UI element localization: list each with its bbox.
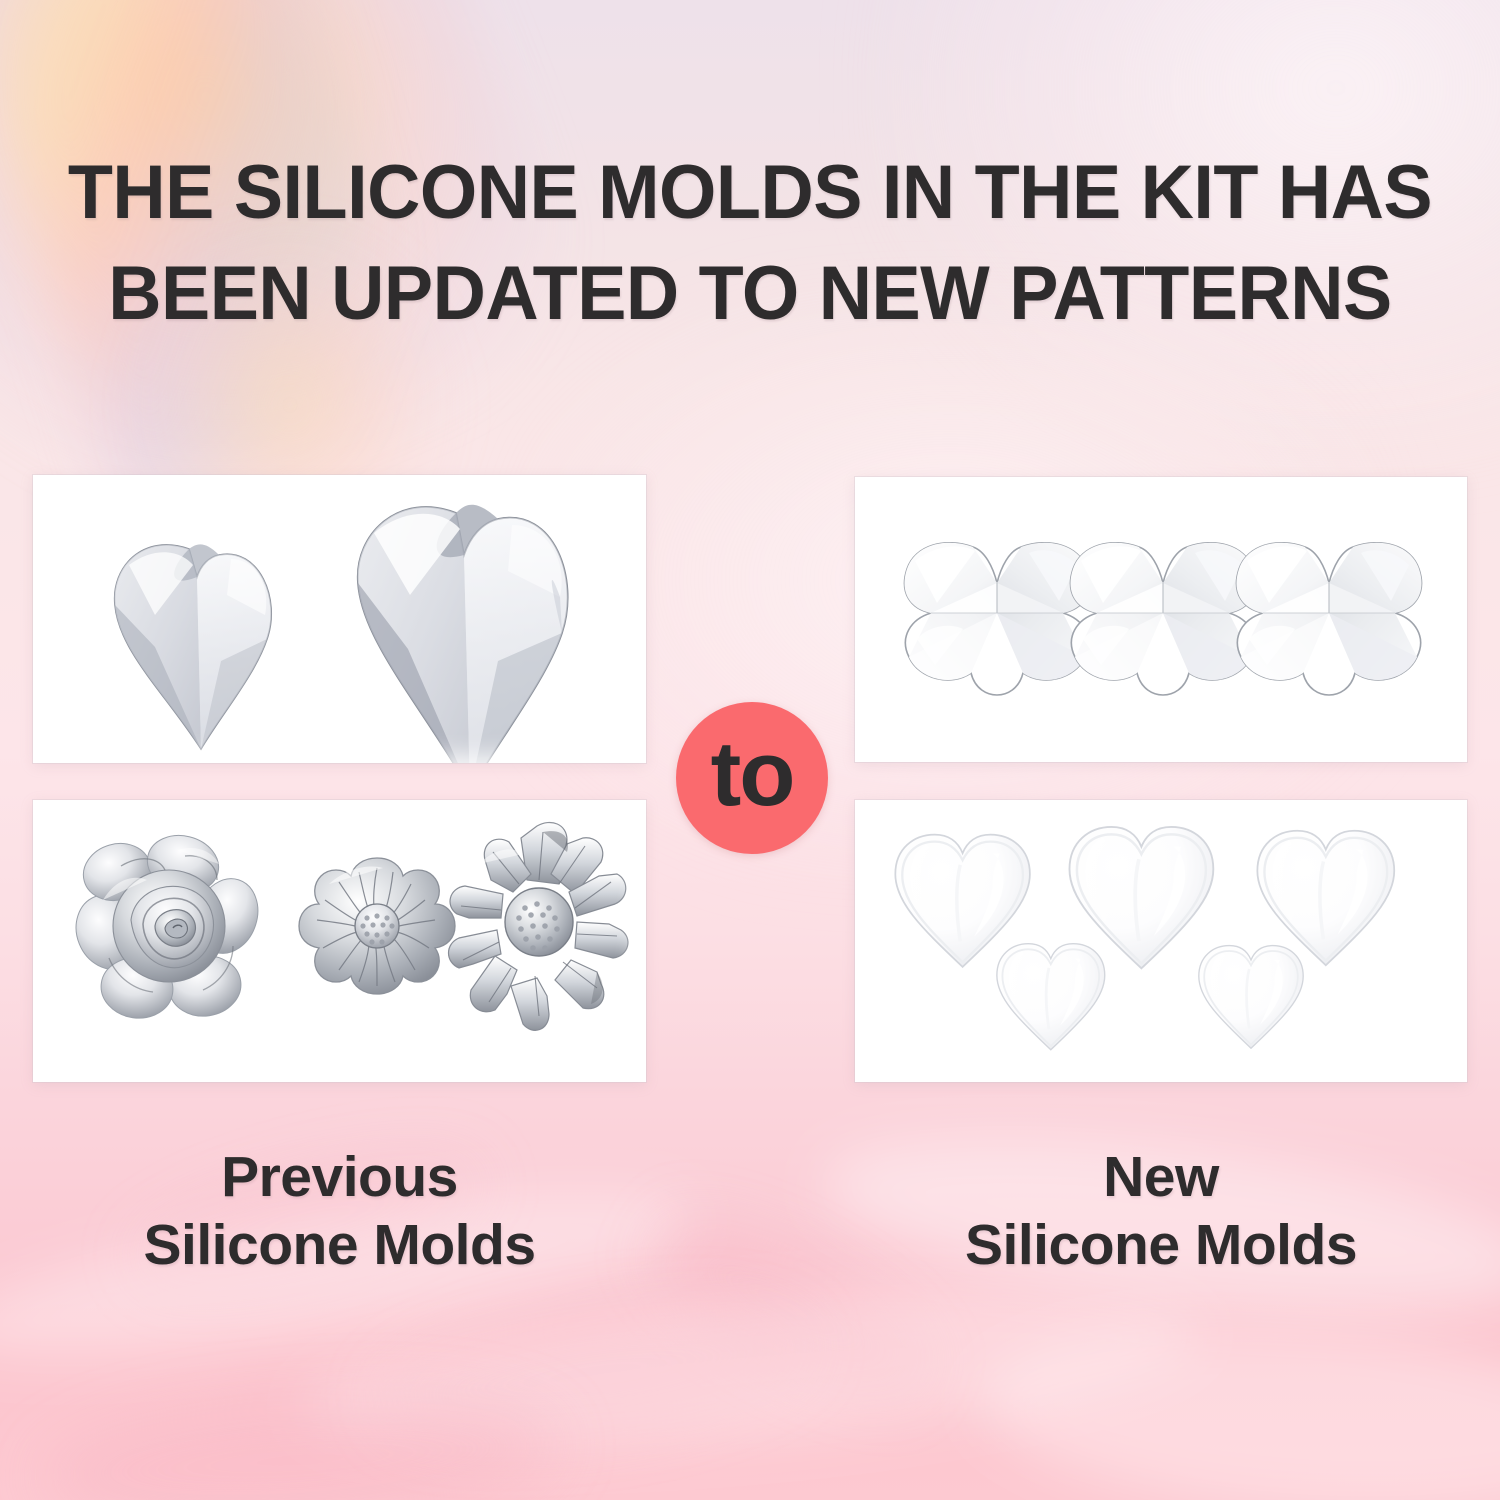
caption-previous-molds: Previous Silicone Molds: [33, 1144, 646, 1280]
new-puffy-hearts-illustration: [855, 800, 1467, 1082]
panel-previous-hearts: [33, 475, 646, 763]
caption-new-molds: New Silicone Molds: [855, 1144, 1467, 1280]
to-badge-label: to: [711, 728, 794, 820]
panel-previous-hearts-content: [33, 475, 646, 763]
panel-new-hearts-content: [855, 800, 1467, 1082]
faceted-heart-large: [358, 505, 568, 763]
to-badge: to: [676, 702, 828, 854]
page-title: THE SILICONE MOLDS IN THE KIT HAS BEEN U…: [23, 142, 1478, 344]
puffy-heart-small-2: [1199, 946, 1303, 1049]
panel-new-hearts: [855, 800, 1467, 1082]
silver-sunflower-mold: [449, 822, 628, 1030]
new-faceted-butterflies-illustration: [855, 477, 1467, 762]
faceted-butterfly-1: [904, 543, 1089, 695]
puffy-heart-small-1: [997, 944, 1105, 1050]
faceted-butterfly-3: [1236, 543, 1421, 695]
faceted-heart-small: [115, 544, 272, 749]
puffy-heart-large-1: [895, 835, 1030, 967]
promo-image-canvas: THE SILICONE MOLDS IN THE KIT HAS BEEN U…: [0, 0, 1500, 1500]
panel-new-butterflies: [855, 477, 1467, 762]
puffy-heart-large-3: [1257, 831, 1394, 966]
silver-daisy-mold: [299, 858, 455, 994]
puffy-heart-large-2: [1069, 827, 1213, 968]
panel-previous-flowers-content: [33, 800, 646, 1082]
faceted-butterfly-2: [1070, 543, 1255, 695]
panel-new-butterflies-content: [855, 477, 1467, 762]
previous-silver-flowers-illustration: [33, 800, 646, 1082]
previous-faceted-hearts-illustration: [33, 475, 646, 763]
silver-rose-mold: [65, 828, 267, 1023]
panel-previous-flowers: [33, 800, 646, 1082]
